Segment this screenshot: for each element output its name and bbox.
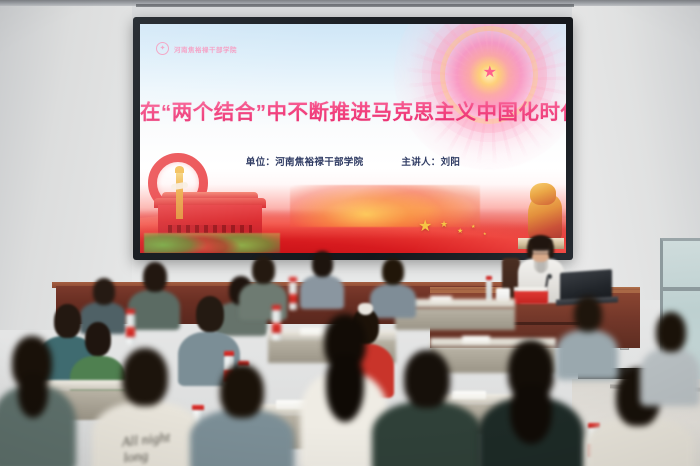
- slide-meta-line: 单位：河南焦裕禄干部学院 主讲人：刘阳: [140, 154, 566, 168]
- huabiao-column-icon: [176, 171, 183, 219]
- person-head: [252, 256, 275, 284]
- person-head: [143, 262, 167, 292]
- wall-mounted-led-display[interactable]: ★ ✦ 河南焦裕禄干部学院 在“两个结合”中不断推进马克思主义中国化时代化 单位…: [133, 17, 573, 260]
- person-head: [93, 278, 115, 305]
- person-shoulders: [128, 290, 180, 330]
- presentation-slide: ★ ✦ 河南焦裕禄干部学院 在“两个结合”中不断推进马克思主义中国化时代化 单位…: [140, 24, 566, 253]
- star-icon: ★: [483, 65, 497, 81]
- water-bottle: [272, 310, 281, 340]
- person-shoulders: [300, 275, 344, 309]
- bottle-cap: [289, 277, 297, 282]
- audience-member: [190, 364, 294, 466]
- bottle-label: [126, 327, 135, 337]
- slide-meta-institution-label: 单位：: [246, 157, 275, 168]
- audience-member: [128, 262, 180, 328]
- person-head: [220, 364, 264, 418]
- slide-logo: ✦ 河南焦裕禄干部学院: [156, 42, 237, 55]
- audience-member: [300, 251, 344, 307]
- person-head: [574, 296, 602, 332]
- person-shoulders: [556, 330, 618, 380]
- water-bottle: [289, 282, 297, 310]
- star-icon: ★: [440, 220, 448, 229]
- person-shoulders: [190, 410, 294, 466]
- paper: [430, 296, 452, 302]
- audience-member: [0, 336, 76, 466]
- audience-member: [372, 350, 482, 466]
- star-icon: ★: [457, 228, 463, 235]
- bottle-cap: [126, 309, 135, 314]
- audience-area: All night long: [0, 252, 700, 466]
- person-head: [122, 348, 168, 406]
- star-icon: ★: [483, 232, 487, 236]
- gate-windows: [168, 225, 252, 233]
- person-head: [312, 251, 333, 277]
- person-head: [196, 296, 224, 332]
- person-hair: [510, 384, 552, 444]
- huabiao-top: [175, 166, 184, 173]
- slide-meta-speaker-label: 主讲人：: [401, 157, 440, 168]
- five-gold-stars: ★ ★ ★ ★ ★: [418, 215, 508, 239]
- bottle-cap: [272, 305, 281, 310]
- lecture-hall-photo: ★ ✦ 河南焦裕禄干部学院 在“两个结合”中不断推进马克思主义中国化时代化 单位…: [0, 0, 700, 466]
- display-panel: ★ ✦ 河南焦裕禄干部学院 在“两个结合”中不断推进马克思主义中国化时代化 单位…: [140, 24, 566, 253]
- star-icon: ★: [418, 219, 432, 235]
- slide-meta-institution-value: 河南焦裕禄干部学院: [275, 157, 363, 168]
- water-bottle: [126, 314, 135, 344]
- audience-member: [556, 296, 618, 374]
- slide-meta-institution: 单位：河南焦裕禄干部学院: [246, 154, 364, 168]
- person-head: [404, 350, 450, 408]
- slide-logo-text: 河南焦裕禄干部学院: [174, 44, 237, 54]
- person-head: [382, 258, 404, 285]
- ceiling-rail-shadow: [136, 4, 574, 7]
- star-emblem-icon: ✦: [156, 42, 169, 55]
- tiananmen-gate-decoration: [144, 169, 266, 253]
- person-head: [656, 312, 686, 352]
- bottle-label: [272, 323, 281, 333]
- bottle-label: [289, 294, 297, 304]
- bottle-cap: [224, 351, 234, 356]
- flower-bed: [144, 233, 280, 253]
- slide-title: 在“两个结合”中不断推进马克思主义中国化时代化: [140, 95, 566, 125]
- person-hair: [18, 372, 48, 418]
- person-shoulders: [372, 402, 482, 466]
- person-hair: [326, 354, 364, 422]
- slide-meta-speaker-value: 刘阳: [441, 157, 461, 168]
- audience-member: [640, 312, 700, 402]
- slide-meta-speaker: 主讲人：刘阳: [401, 154, 460, 168]
- lion-head: [530, 183, 556, 205]
- star-icon: ★: [471, 225, 475, 230]
- person-shoulders: [640, 348, 700, 406]
